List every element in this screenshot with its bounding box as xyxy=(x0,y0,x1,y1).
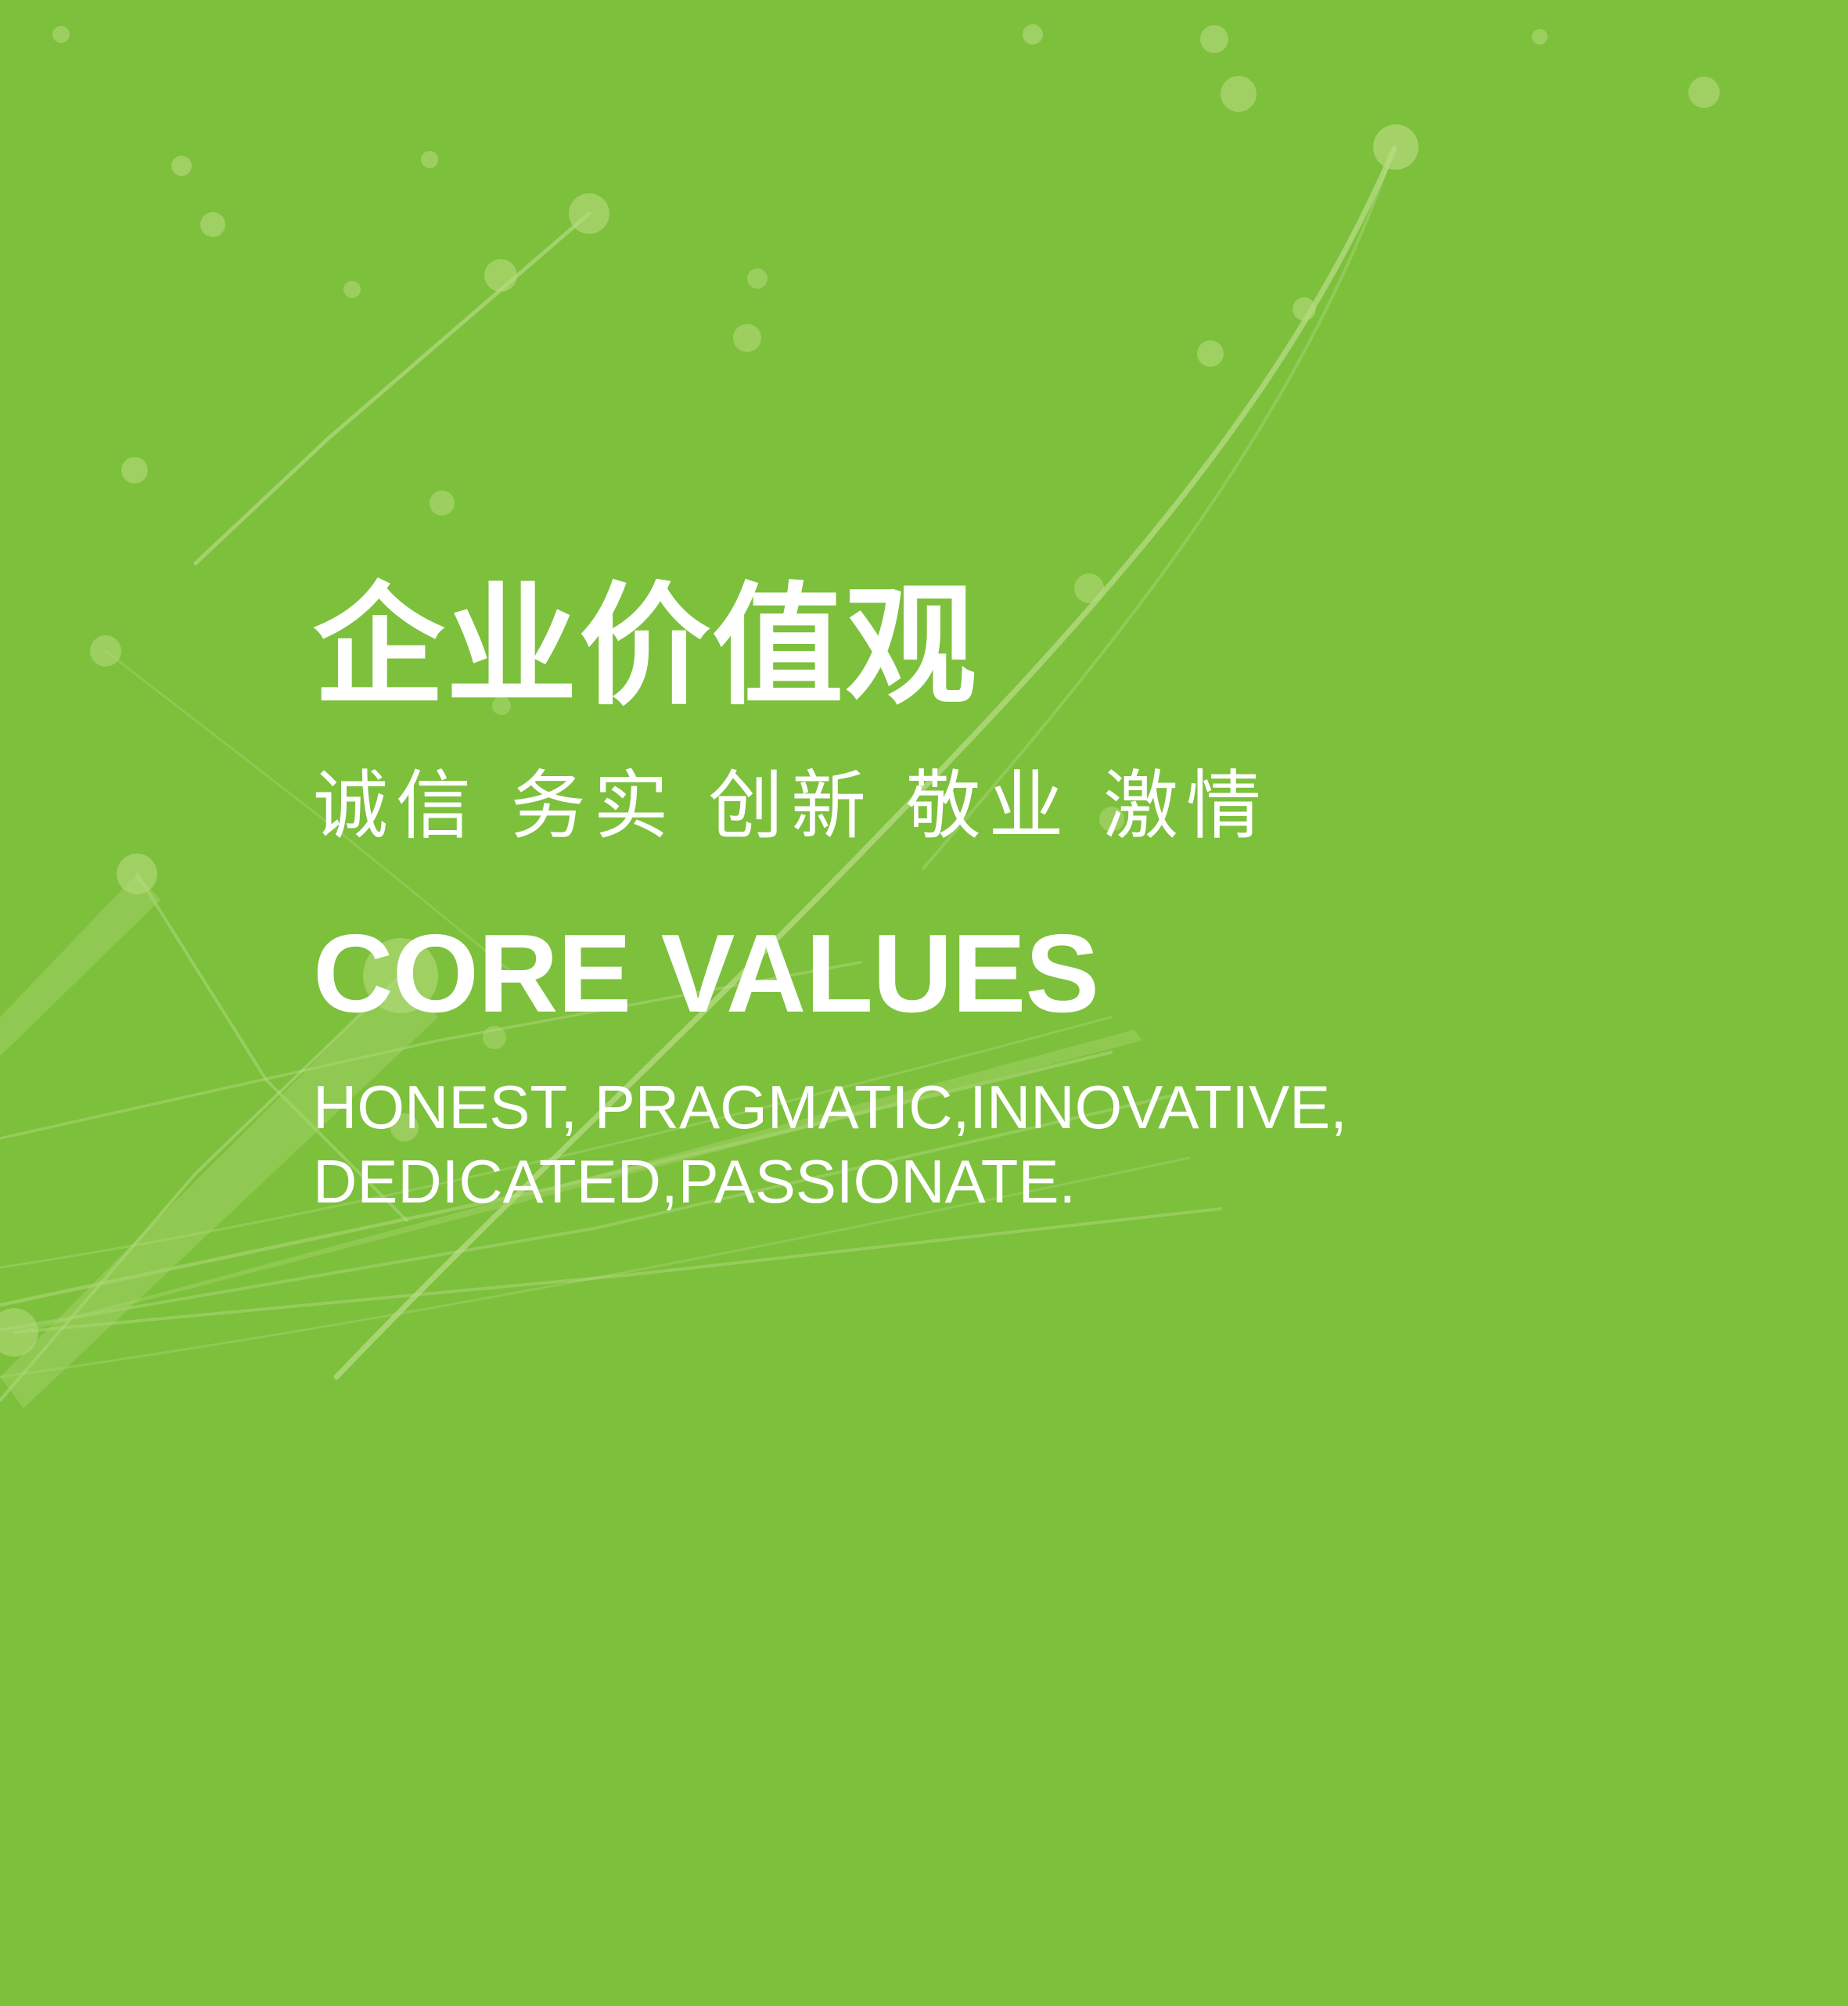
network-node xyxy=(52,26,70,43)
network-node xyxy=(117,854,157,894)
network-node xyxy=(747,268,768,289)
page-title-chinese: 企业价值观 xyxy=(313,581,1721,712)
network-node xyxy=(343,281,361,298)
network-node xyxy=(484,259,517,292)
page-subtitle-chinese: 诚信 务实 创新 敬业 激情 xyxy=(313,768,1721,843)
network-node xyxy=(1373,124,1418,170)
network-node xyxy=(171,156,192,176)
poster-canvas: 企业价值观 诚信 务实 创新 敬业 激情 CORE VALUES HONEST,… xyxy=(0,0,1848,2006)
body-line-1: HONEST, PRAGMATIC,INNOVATIVE, xyxy=(313,1070,1721,1145)
network-node xyxy=(430,491,455,516)
body-line-2: DEDICATED,PASSIONATE. xyxy=(313,1145,1721,1219)
network-node xyxy=(1221,76,1257,112)
network-node xyxy=(90,635,121,667)
network-node xyxy=(1197,340,1224,367)
network-node xyxy=(200,212,225,237)
network-node xyxy=(0,1308,38,1357)
page-title-english: CORE VALUES xyxy=(313,919,1721,1030)
network-node xyxy=(733,324,761,352)
network-node xyxy=(569,193,609,234)
network-node xyxy=(1200,25,1228,53)
network-node xyxy=(1023,24,1043,45)
network-node xyxy=(1293,297,1316,321)
network-node xyxy=(1532,29,1548,45)
network-node xyxy=(421,151,438,168)
text-content-block: 企业价值观 诚信 务实 创新 敬业 激情 CORE VALUES HONEST,… xyxy=(313,581,1721,1219)
network-node xyxy=(1688,77,1720,108)
page-body-english: HONEST, PRAGMATIC,INNOVATIVE, DEDICATED,… xyxy=(313,1070,1721,1219)
network-node xyxy=(121,457,148,484)
